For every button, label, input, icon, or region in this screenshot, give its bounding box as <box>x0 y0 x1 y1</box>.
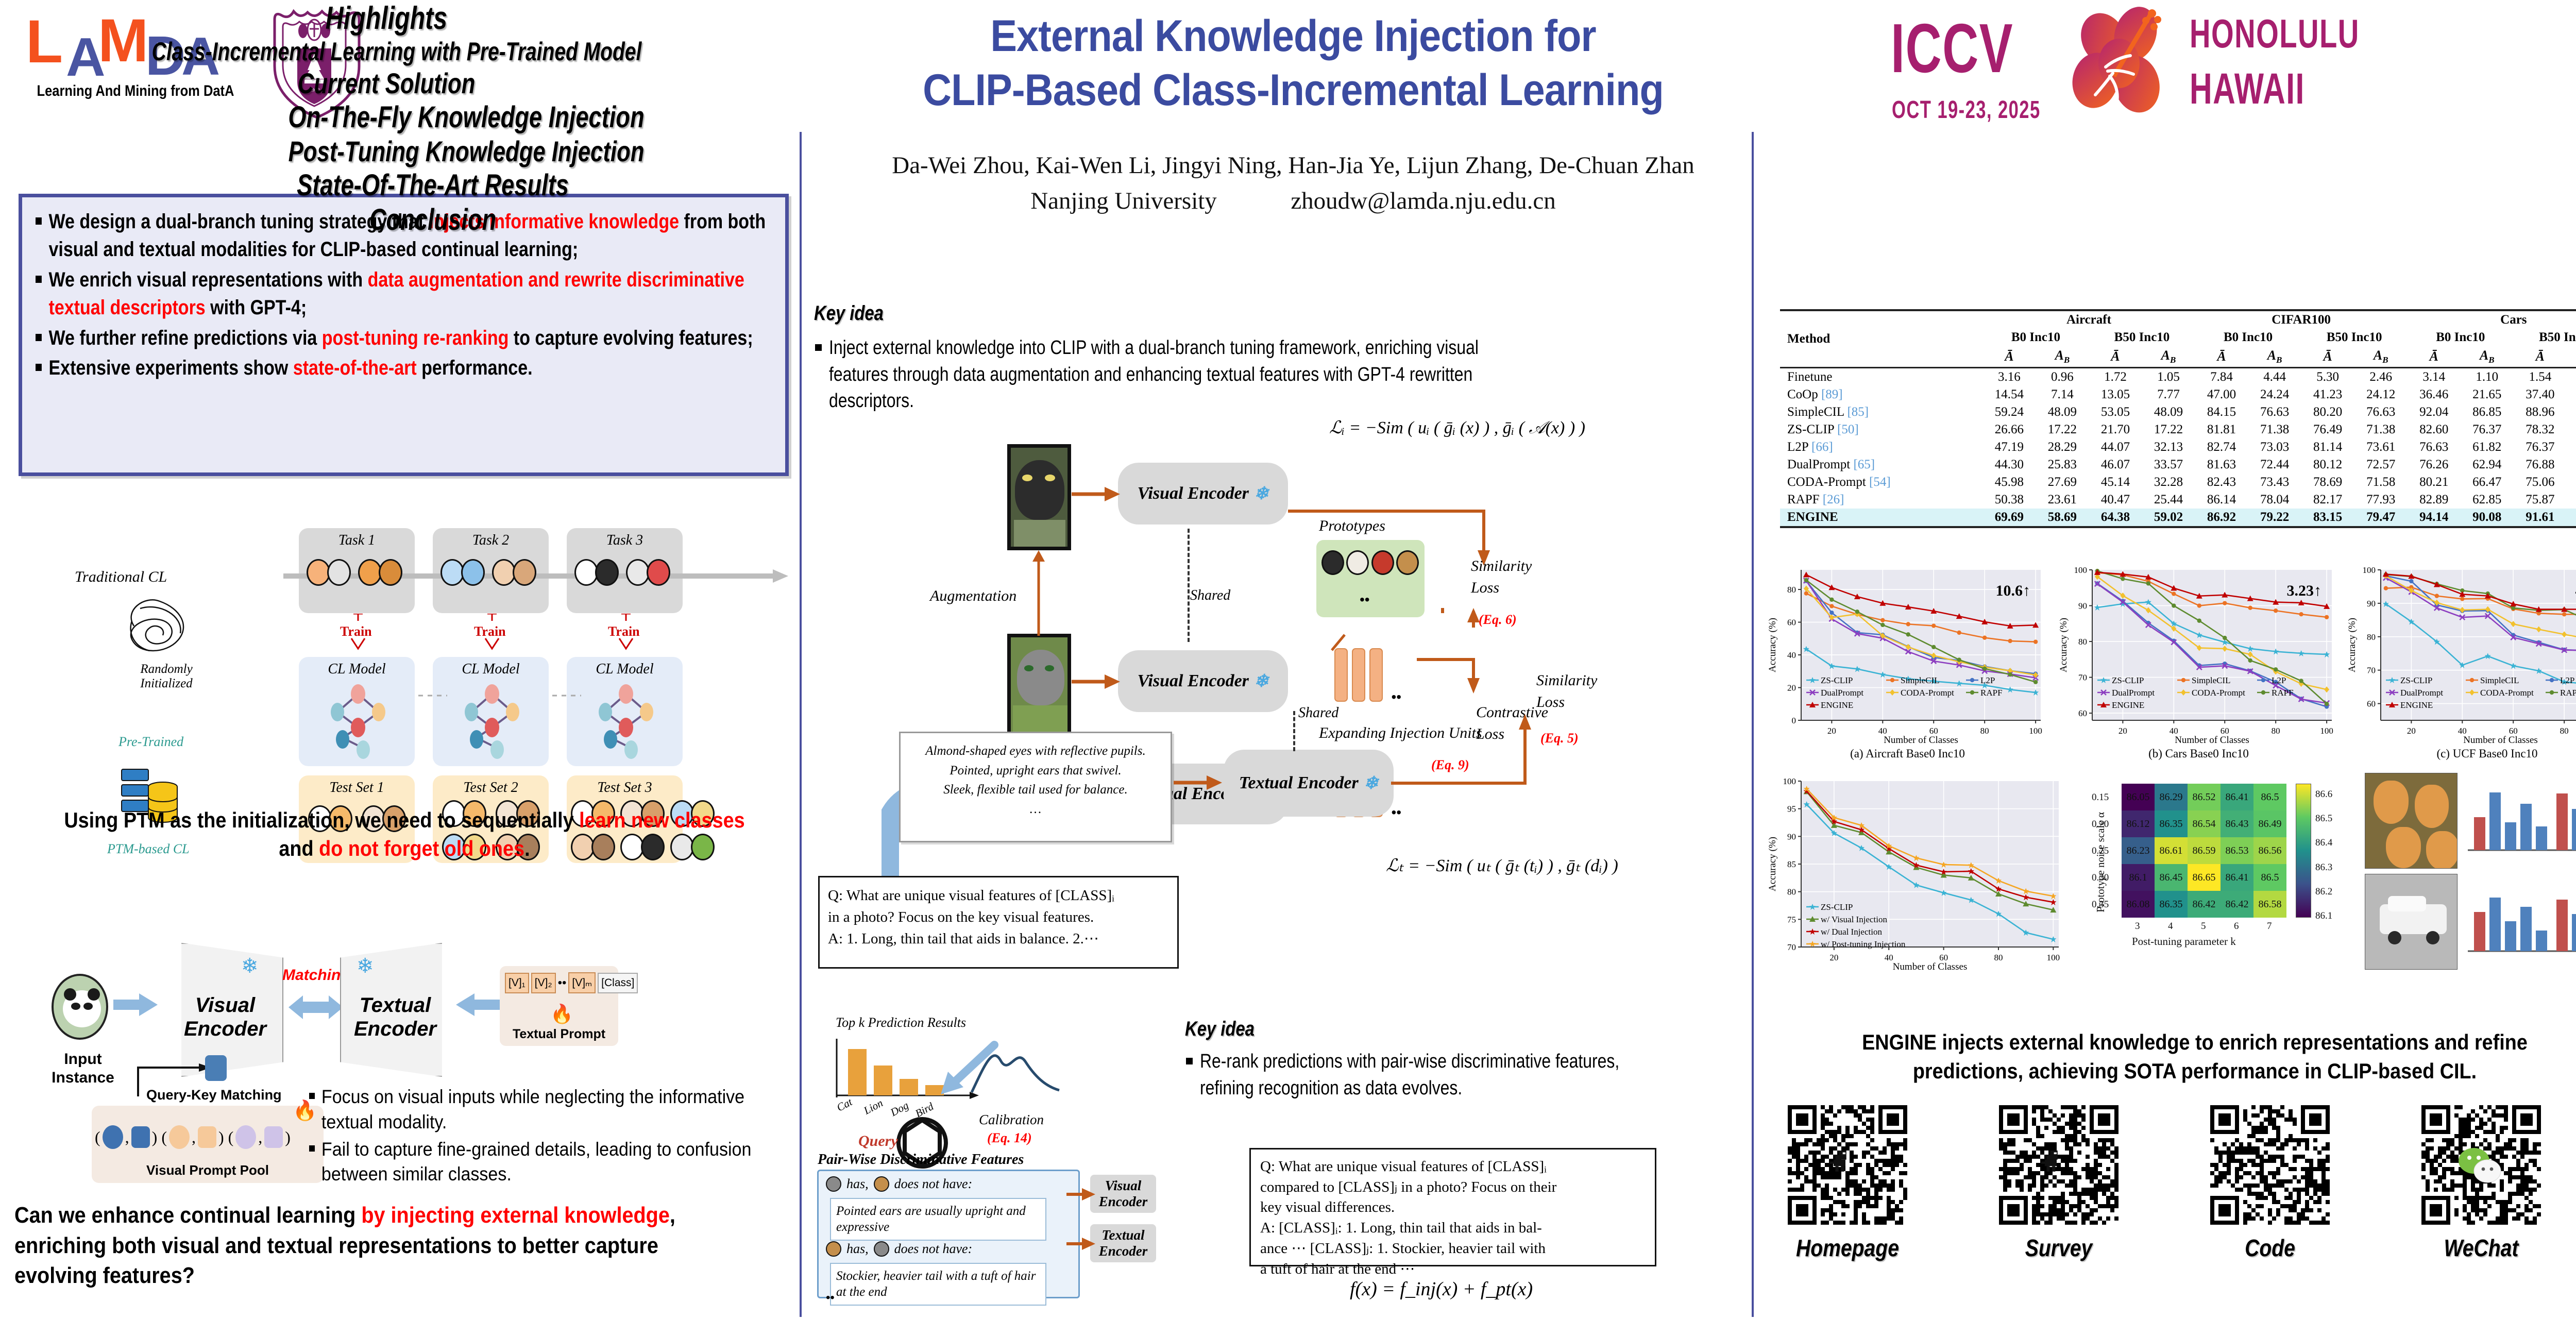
svg-text:Number of Classes: Number of Classes <box>1893 961 1968 972</box>
qa-box-1: Q: What are unique visual features of [C… <box>818 876 1179 969</box>
visual-encoder-top: Visual Encoder ❄ <box>1118 463 1288 525</box>
highlight-text: learn new classes <box>579 808 745 832</box>
highlight-item-4: Extensive experiments show state-of-the-… <box>36 354 774 382</box>
qr-code-wechat[interactable]: WeChat <box>2421 1105 2541 1225</box>
svg-text:L2P: L2P <box>2272 675 2286 685</box>
results-table-head: Method Aircraft CIFAR100 Cars B0 Inc10 B… <box>1780 310 2576 368</box>
query-key-matching-label: Query-Key Matching <box>146 1087 282 1103</box>
svg-text:70: 70 <box>2367 666 2376 675</box>
svg-text:Accuracy (%): Accuracy (%) <box>2347 618 2358 672</box>
table-row: ZS-CLIP [50]26.6617.2221.7017.2281.8171.… <box>1780 421 2576 438</box>
otf-bullet-text: Inject external knowledge into CLIP with… <box>829 335 1491 415</box>
poster-root: L A M D A Learning And Mining from DatA … <box>0 0 2576 1319</box>
descriptor-line-2: Pointed, upright ears that swivel. <box>907 761 1164 781</box>
col-split-a2: B50 Inc10 <box>2089 329 2195 346</box>
svg-text:80: 80 <box>1994 953 2003 962</box>
svg-text:SimpleCIL: SimpleCIL <box>1901 675 1940 685</box>
textual-encoder-bottom: Textual Encoder ❄ <box>1224 750 1394 817</box>
svg-text:70: 70 <box>2078 673 2087 683</box>
affiliation: Nanjing University <box>1030 188 1217 214</box>
qa1-line-1: Q: What are unique visual features of [C… <box>828 885 1169 906</box>
svg-text:DualPrompt: DualPrompt <box>1821 688 1863 698</box>
highlight-text: by injecting external knowledge <box>361 1203 670 1228</box>
randomly-initialized-label: Randomly Initialized <box>128 662 205 691</box>
query-key-block <box>205 1055 227 1081</box>
metric-header-5: AB <box>2248 346 2301 368</box>
cell-r2-c5: 76.63 <box>2248 403 2301 421</box>
pairwise-row-1: has, does not have: <box>826 1176 972 1192</box>
cell-r3-c10: 78.32 <box>2514 421 2567 438</box>
svg-text:100: 100 <box>2363 565 2376 575</box>
textual-prompt-label: Textual Prompt <box>500 1027 618 1042</box>
cell-r2-c4: 84.15 <box>2195 403 2248 421</box>
table-row: SimpleCIL [85]59.2448.0953.0548.0984.157… <box>1780 403 2576 421</box>
heatmap-cell-r1-c4: 86.49 <box>2253 810 2286 837</box>
cell-r2-c11: 86.85 <box>2567 403 2576 421</box>
heatmap-cell-r3-c1: 86.45 <box>2155 864 2188 891</box>
visual-encoder-label: Visual Encoder <box>166 993 284 1041</box>
row-method-6: CODA-Prompt [54] <box>1780 474 1982 491</box>
metric-header-3: AB <box>2142 346 2195 368</box>
cell-r2-c1: 48.09 <box>2036 403 2089 421</box>
line-chart-svg: 60 70 80 90 100 20 40 60 80 100Number of… <box>2347 562 2576 747</box>
method-name: ENGINE <box>1787 510 1838 524</box>
qr-code-code[interactable]: Code <box>2210 1105 2330 1225</box>
cell-r5-c9: 62.94 <box>2461 456 2514 474</box>
post-tuning-graphics: Top k Prediction Results Cat Lion Dog Bi… <box>809 1015 1149 1314</box>
cell-r6-c0: 45.98 <box>1982 474 2036 491</box>
heatmap-cell-r3-c3: 86.41 <box>2221 864 2253 891</box>
cell-r8-c2: 64.38 <box>2089 509 2142 527</box>
cell-r7-c11: 63.19 <box>2567 491 2576 509</box>
descriptor-line-1: Almond-shaped eyes with reflective pupil… <box>907 741 1164 761</box>
svg-text:SimpleCIL: SimpleCIL <box>2480 675 2519 685</box>
cell-r3-c4: 81.81 <box>2195 421 2248 438</box>
cell-r4-c11: 65.64 <box>2567 438 2576 456</box>
colorbar-tick-2: 86.4 <box>2315 837 2332 849</box>
metric-header-1: AB <box>2036 346 2089 368</box>
col-dataset-cars: Cars <box>2408 310 2576 329</box>
svg-text:Number of Classes: Number of Classes <box>1884 735 1958 746</box>
post-tuning-heading: Post-Tuning Knowledge Injection <box>103 134 830 168</box>
svg-text:100: 100 <box>2320 726 2333 736</box>
heatmap-cell-r4-c1: 86.35 <box>2155 891 2188 918</box>
author-list: Da-Wei Zhou, Kai-Wen Li, Jingyi Ning, Ha… <box>752 149 1834 182</box>
arrow-img-to-ve2 <box>1072 671 1121 692</box>
qr-code-survey[interactable]: Survey <box>1999 1105 2119 1225</box>
row-method-1: CoOp [89] <box>1780 386 1982 403</box>
cell-r2-c6: 80.20 <box>2301 403 2354 421</box>
svg-text:L2P: L2P <box>1980 675 1995 685</box>
svg-text:10.6↑: 10.6↑ <box>1996 582 2031 599</box>
svg-text:Number of Classes: Number of Classes <box>2463 735 2538 746</box>
method-name: CODA-Prompt <box>1787 475 1866 489</box>
cell-r4-c3: 32.13 <box>2142 438 2195 456</box>
cell-r5-c5: 72.44 <box>2248 456 2301 474</box>
qr-label-3: Code <box>2205 1234 2336 1262</box>
cell-r6-c3: 32.28 <box>2142 474 2195 491</box>
qualitative-image-bottom <box>2365 874 2458 970</box>
cell-r0-c3: 1.05 <box>2142 368 2195 386</box>
svg-text:100: 100 <box>2074 565 2088 575</box>
cell-r3-c8: 82.60 <box>2408 421 2461 438</box>
cl-model-label-1: CL Model <box>299 661 415 678</box>
pairwise-ellipsis: •• <box>826 1291 835 1305</box>
svg-text:40: 40 <box>1787 650 1796 660</box>
highlight-item-text: We enrich visual representations with da… <box>49 266 774 322</box>
cell-r4-c7: 73.61 <box>2354 438 2408 456</box>
cell-r1-c8: 36.46 <box>2408 386 2461 403</box>
qr-code-homepage[interactable]: Homepage <box>1788 1105 1907 1225</box>
cell-r4-c4: 82.74 <box>2195 438 2248 456</box>
cl-model-label-2: CL Model <box>433 661 549 678</box>
pairwise-box: Pair-Wise Discriminative Features has, d… <box>817 1170 1080 1298</box>
bullet-square-icon <box>815 344 822 351</box>
svg-text:20: 20 <box>1827 726 1836 736</box>
cell-r8-c9: 90.08 <box>2461 509 2514 527</box>
heatmap-cell-r3-c0: 86.1 <box>2122 864 2155 891</box>
qa2-line-5: ance ⋯ [CLASS]ⱼ: 1. Stockier, heavier ta… <box>1260 1239 1646 1259</box>
cell-r8-c4: 86.92 <box>2195 509 2248 527</box>
svg-text:w/ Dual Injection: w/ Dual Injection <box>1821 927 1882 937</box>
ellipsis-dots: •• <box>558 976 567 990</box>
pairwise-feature-2: Stockier, heavier tail with a tuft of ha… <box>830 1263 1046 1306</box>
bullet-square-icon <box>309 1145 315 1152</box>
row-method-7: RAPF [26] <box>1780 491 1982 509</box>
svg-text:100: 100 <box>2047 953 2060 962</box>
svg-text:80: 80 <box>1787 585 1796 595</box>
svg-text:RAPF: RAPF <box>1980 688 2003 698</box>
class-token: [Class] <box>598 973 638 993</box>
svg-text:Number of Classes: Number of Classes <box>2175 735 2249 746</box>
loss-i-equation: ℒᵢ = −Sim ( uᵢ ( ḡᵢ (x) ) , ḡᵢ ( 𝒜(x) ) … <box>1329 417 1585 438</box>
snowflake-icon-te2: ❄ <box>1364 773 1379 793</box>
cell-r5-c4: 81.63 <box>2195 456 2248 474</box>
svg-text:80: 80 <box>2272 726 2280 736</box>
iccv-name: ICCV <box>1891 8 2013 88</box>
cell-r0-c9: 1.10 <box>2461 368 2514 386</box>
cs-bullet-2: Fail to capture fine-grained details, le… <box>309 1137 759 1188</box>
table-row: CODA-Prompt [54]45.9827.6945.1432.2882.4… <box>1780 474 2576 491</box>
results-table: Method Aircraft CIFAR100 Cars B0 Inc10 B… <box>1780 309 2576 528</box>
pt-key-idea-label: Key idea <box>1185 1018 1255 1041</box>
textual-encoder-label: Textual Encoder <box>341 993 449 1041</box>
cell-r4-c9: 61.82 <box>2461 438 2514 456</box>
poster-title-line1: External Knowledge Injection for <box>816 9 1771 63</box>
bullet-square-icon-2 <box>1186 1058 1193 1064</box>
pt-bullet-row: Re-rank predictions with pair-wise discr… <box>1186 1049 1748 1102</box>
input-arrow <box>113 989 160 1020</box>
qualitative-bar-chart-top <box>2466 773 2576 869</box>
heatmap-cell-r3-c2: 86.65 <box>2188 864 2221 891</box>
metric-header-9: AB <box>2461 346 2514 368</box>
cell-r3-c11: 76.37 <box>2567 421 2576 438</box>
prompt-arrow <box>456 989 502 1020</box>
cat-marker-1 <box>826 1176 841 1192</box>
visual-prompt-pool-label: Visual Prompt Pool <box>92 1162 324 1178</box>
highlight-text: do not forget old ones <box>319 836 524 860</box>
chart-caption-2: (b) Cars Base0 Inc10 <box>2058 747 2339 760</box>
qa-box-1-lines: Q: What are unique visual features of [C… <box>828 885 1169 950</box>
col-dataset-aircraft: Aircraft <box>1982 310 2195 329</box>
cell-r1-c2: 13.05 <box>2089 386 2142 403</box>
method-name: L2P <box>1787 440 1808 454</box>
snowflake-icon-textual: ❄ <box>357 954 374 978</box>
eq14-label: (Eq. 14) <box>987 1130 1032 1146</box>
cell-r1-c3: 7.77 <box>2142 386 2195 403</box>
qa2-line-2: compared to [CLASS]ⱼ in a photo? Focus o… <box>1260 1177 1646 1198</box>
cell-r7-c0: 50.38 <box>1982 491 2036 509</box>
row-method-5: DualPrompt [65] <box>1780 456 1982 474</box>
svg-text:ENGINE: ENGINE <box>2400 700 2433 710</box>
table-row: DualPrompt [65]44.3025.8346.0733.5781.63… <box>1780 456 2576 474</box>
cell-r7-c7: 77.93 <box>2354 491 2408 509</box>
augmented-cat-image <box>1007 444 1071 550</box>
iccv-dates: OCT 19-23, 2025 <box>1892 96 2041 124</box>
cell-r2-c8: 92.04 <box>2408 403 2461 421</box>
heatmap-cell-r2-c1: 86.61 <box>2155 837 2188 864</box>
svg-text:60: 60 <box>1787 618 1796 628</box>
author-block: Da-Wei Zhou, Kai-Wen Li, Jingyi Ning, Ha… <box>752 149 1834 218</box>
svg-text:CODA-Prompt: CODA-Prompt <box>1901 688 1954 698</box>
method-ref[interactable]: [65] <box>1853 458 1875 471</box>
query-label-2: Query <box>858 1132 898 1150</box>
dino-qr-icon[interactable] <box>1999 1105 2119 1225</box>
colorbar-tick-4: 86.2 <box>2315 886 2332 898</box>
highlight-item-2: We enrich visual representations with da… <box>36 266 774 322</box>
svg-text:20: 20 <box>2119 726 2127 736</box>
svg-text:CODA-Prompt: CODA-Prompt <box>2192 688 2245 698</box>
highlights-heading: Highlights <box>85 0 688 37</box>
heatmap-xtick-1: 4 <box>2168 921 2173 932</box>
cell-r0-c0: 3.16 <box>1982 368 2036 386</box>
visual-prompt-pool-box: (, ) ( , ) ( , ) 🔥 Visual Prompt Pool <box>92 1106 324 1183</box>
cell-r0-c5: 4.44 <box>2248 368 2301 386</box>
train-arrows <box>294 614 696 655</box>
col-split-c1: B0 Inc10 <box>2195 329 2301 346</box>
pairwise-row-2: has, does not have: <box>826 1241 972 1257</box>
heatmap-cell-r3-c4: 86.5 <box>2253 864 2286 891</box>
svg-text:60: 60 <box>2078 708 2087 718</box>
cell-r5-c11: 67.55 <box>2567 456 2576 474</box>
cell-r8-c5: 79.22 <box>2248 509 2301 527</box>
svg-text:75: 75 <box>1787 915 1796 924</box>
svg-text:60: 60 <box>2367 699 2376 709</box>
snowflake-icon-visual: ❄ <box>241 954 259 978</box>
colorbar-tick-3: 86.3 <box>2315 862 2332 873</box>
pt-encoder-arrows <box>1066 1180 1097 1267</box>
task-label-2: Task 2 <box>433 532 549 549</box>
random-scribble-icon <box>118 590 196 662</box>
parameter-heatmap: 86.0586.2986.5286.4186.50.1586.1286.3586… <box>2081 775 2360 976</box>
pt-bullet-text: Re-rank predictions with pair-wise discr… <box>1200 1049 1658 1102</box>
cell-r6-c6: 78.69 <box>2301 474 2354 491</box>
svg-text:0: 0 <box>1792 716 1797 725</box>
iccv-city: HONOLULU <box>2190 10 2360 57</box>
highlight-text: state-of-the-art <box>293 357 417 379</box>
traditional-cl-label: Traditional CL <box>75 568 167 586</box>
eiu-ellipsis-visual: •• <box>1391 689 1401 705</box>
qr-matrix <box>1788 1105 1907 1225</box>
cell-r2-c9: 86.85 <box>2461 403 2514 421</box>
cell-r4-c6: 81.14 <box>2301 438 2354 456</box>
snowflake-icon-ve1: ❄ <box>1254 483 1269 504</box>
cell-r4-c2: 44.07 <box>2089 438 2142 456</box>
table-row: Finetune3.160.961.721.057.844.445.302.46… <box>1780 368 2576 386</box>
descriptor-line-3: Sleek, flexible tail used for balance. <box>907 780 1164 800</box>
table-row: L2P [66]47.1928.2944.0732.1382.7473.0381… <box>1780 438 2576 456</box>
heatmap-xtick-0: 3 <box>2135 921 2140 932</box>
qualitative-bar-chart-bottom <box>2466 874 2576 970</box>
method-ref[interactable]: [50] <box>1837 422 1859 436</box>
svg-text:20: 20 <box>1829 953 1838 962</box>
cell-r1-c4: 47.00 <box>2195 386 2248 403</box>
method-ref[interactable]: [85] <box>1847 405 1869 419</box>
cell-r7-c10: 75.87 <box>2514 491 2567 509</box>
cell-r1-c0: 14.54 <box>1982 386 2036 403</box>
heatmap-cell-r4-c0: 86.08 <box>2122 891 2155 918</box>
row-method-0: Finetune <box>1780 368 1982 386</box>
svg-text:100: 100 <box>2029 726 2042 736</box>
metric-header-6: Ā <box>2301 346 2354 368</box>
descriptor-box: Almond-shaped eyes with reflective pupil… <box>899 732 1172 842</box>
qualitative-panel <box>2365 773 2576 979</box>
line-chart-svg: 0 20 40 60 80 20 40 60 80 100Number of C… <box>1767 562 2048 747</box>
cell-r0-c10: 1.54 <box>2514 368 2567 386</box>
svg-text:ENGINE: ENGINE <box>1821 700 1853 710</box>
cell-r8-c3: 59.02 <box>2142 509 2195 527</box>
heatmap-cell-r0-c2: 86.52 <box>2188 784 2221 810</box>
heatmap-cell-r2-c3: 86.53 <box>2221 837 2253 864</box>
heatmap-cell-r4-c4: 86.58 <box>2253 891 2286 918</box>
cell-r5-c3: 33.57 <box>2142 456 2195 474</box>
metric-header-0: Ā <box>1982 346 2036 368</box>
highlight-item-text: Extensive experiments show state-of-the-… <box>49 354 533 382</box>
dog-marker-1 <box>874 1176 889 1192</box>
cell-r8-c1: 58.69 <box>2036 509 2089 527</box>
metric-header-7: AB <box>2354 346 2408 368</box>
svg-text:80: 80 <box>1980 726 1989 736</box>
cell-r4-c0: 47.19 <box>1982 438 2036 456</box>
line-chart-svg: 70 75 80 85 90 95 100 20 40 60 80 100Num… <box>1767 773 2066 974</box>
method-ref[interactable]: [54] <box>1869 475 1891 489</box>
svg-text:CODA-Prompt: CODA-Prompt <box>2480 688 2534 698</box>
cell-r5-c0: 44.30 <box>1982 456 2036 474</box>
highlight-text: post-tuning re-ranking <box>322 327 509 349</box>
augmentation-label: Augmentation <box>930 587 1016 605</box>
cell-r3-c2: 21.70 <box>2089 421 2142 438</box>
svg-text:90: 90 <box>2367 599 2376 608</box>
cell-r0-c4: 7.84 <box>2195 368 2248 386</box>
cell-r1-c9: 21.65 <box>2461 386 2514 403</box>
heatmap-cell-r0-c1: 86.29 <box>2155 784 2188 810</box>
method-ref[interactable]: [66] <box>1811 440 1833 454</box>
svg-text:20: 20 <box>2407 726 2416 736</box>
qa1-line-2: in a photo? Focus on the key visual feat… <box>828 906 1169 928</box>
cell-r6-c1: 27.69 <box>2036 474 2089 491</box>
research-question: Can we enhance continual learning by inj… <box>14 1200 710 1291</box>
flame-icon-textual: 🔥 <box>550 1003 573 1025</box>
original-cat-image <box>1007 634 1071 740</box>
chart-caption-3: (c) UCF Base0 Inc10 <box>2347 747 2576 760</box>
panda-input-image <box>52 974 108 1040</box>
iccv-state: HAWAII <box>2190 64 2305 114</box>
cell-r1-c7: 24.12 <box>2354 386 2408 403</box>
method-name: DualPrompt <box>1787 458 1850 471</box>
qa1-line-3: A: 1. Long, thin tail that aids in balan… <box>828 928 1169 950</box>
wechat-qr-icon[interactable] <box>2421 1105 2541 1225</box>
method-name: RAPF <box>1787 493 1820 506</box>
heatmap-ylabel: Prototype noise scale α <box>2094 812 2107 912</box>
heatmap-xtick-2: 5 <box>2201 921 2206 932</box>
svg-text:85: 85 <box>1787 859 1796 869</box>
cs-bullet-1: Focus on visual inputs while neglecting … <box>309 1085 759 1135</box>
cell-r7-c4: 86.14 <box>2195 491 2248 509</box>
dino-qr-icon[interactable] <box>1788 1105 1907 1225</box>
lamda-letter-L: L <box>26 11 63 72</box>
qa-box-2: Q: What are unique visual features of [C… <box>1249 1148 1656 1266</box>
cell-r2-c7: 76.63 <box>2354 403 2408 421</box>
col-split-r2: B50 Inc10 <box>2514 329 2576 346</box>
otf-key-idea-label: Key idea <box>814 302 884 325</box>
column-divider-right <box>1752 132 1754 1317</box>
cell-r7-c1: 23.61 <box>2036 491 2089 509</box>
heatmap-xtick-3: 6 <box>2234 921 2239 932</box>
heatmap-cell-r2-c0: 86.23 <box>2122 837 2155 864</box>
pairwise-title: Pair-Wise Discriminative Features <box>818 1152 1024 1168</box>
bullet-square-icon <box>36 217 42 225</box>
heatmap-ytick-0: 0.15 <box>2092 792 2109 803</box>
cell-r5-c8: 76.26 <box>2408 456 2461 474</box>
github-qr-icon[interactable] <box>2210 1105 2330 1225</box>
method-ref[interactable]: [26] <box>1823 493 1844 506</box>
cell-r6-c2: 45.14 <box>2089 474 2142 491</box>
metric-header-10: Ā <box>2514 346 2567 368</box>
prompt-token-row: [V]₁ [V]₂ •• [V]ₘ [Class] <box>505 972 638 993</box>
otf-bullet-row: Inject external knowledge into CLIP with… <box>815 335 1619 415</box>
qa2-line-4: A: [CLASS]ᵢ: 1. Long, thin tail that aid… <box>1260 1218 1646 1239</box>
svg-text:ENGINE: ENGINE <box>2112 700 2144 710</box>
method-name: Finetune <box>1787 370 1833 384</box>
conclusion-text: ENGINE injects external knowledge to enr… <box>1805 1028 2576 1086</box>
svg-text:100: 100 <box>1783 776 1797 786</box>
qr-matrix <box>1999 1105 2119 1225</box>
svg-text:ZS-CLIP: ZS-CLIP <box>1821 675 1853 685</box>
svg-text:95: 95 <box>1787 804 1796 814</box>
cell-r3-c6: 76.49 <box>2301 421 2354 438</box>
qa2-line-1: Q: What are unique visual features of [C… <box>1260 1157 1646 1177</box>
heatmap-cell-r1-c3: 86.43 <box>2221 810 2253 837</box>
qr-matrix <box>2210 1105 2330 1225</box>
cell-r3-c1: 17.22 <box>2036 421 2089 438</box>
pt-visual-encoder: Visual Encoder <box>1090 1175 1156 1213</box>
prompt-token-2: [V]₂ <box>531 973 556 993</box>
dog-marker-2 <box>826 1241 841 1257</box>
chart-caption-1: (a) Aircraft Base0 Inc10 <box>1767 747 2048 760</box>
svg-text:DualPrompt: DualPrompt <box>2400 688 2443 698</box>
method-ref[interactable]: [89] <box>1821 387 1843 401</box>
task-label-1: Task 1 <box>299 532 415 549</box>
heatmap-cell-r1-c1: 86.35 <box>2155 810 2188 837</box>
table-row: CoOp [89]14.547.1413.057.7747.0024.2441.… <box>1780 386 2576 403</box>
cell-r0-c7: 2.46 <box>2354 368 2408 386</box>
cell-r8-c11: 90.03 <box>2567 509 2576 527</box>
cell-r3-c5: 71.38 <box>2248 421 2301 438</box>
heatmap-cell-r0-c0: 86.05 <box>2122 784 2155 810</box>
colorbar-tick-5: 86.1 <box>2315 910 2332 922</box>
cell-r2-c3: 48.09 <box>2142 403 2195 421</box>
cell-r7-c5: 78.04 <box>2248 491 2301 509</box>
